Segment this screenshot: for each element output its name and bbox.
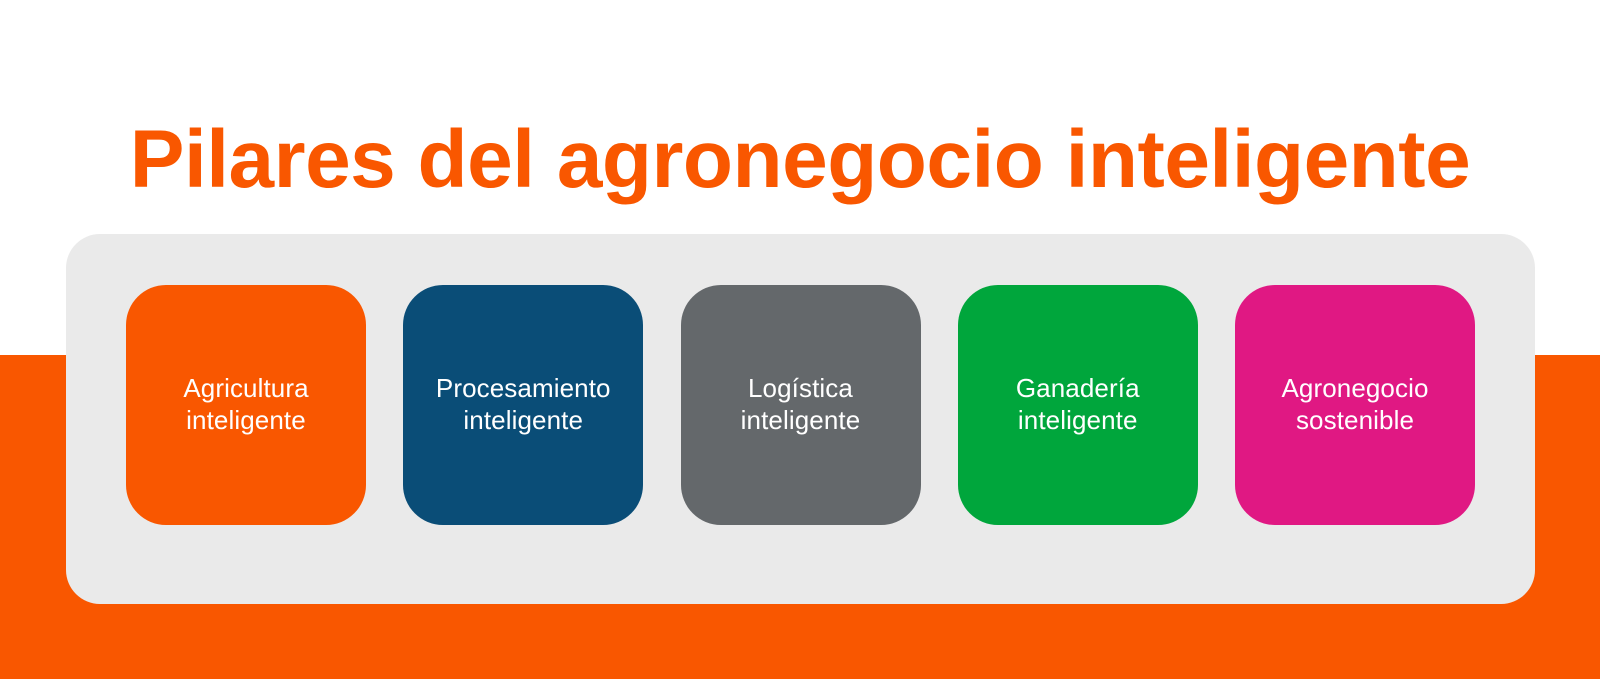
- pillars-panel: Agricultura inteligente Procesamiento in…: [66, 234, 1535, 604]
- pillar-card-procesamiento-inteligente[interactable]: Procesamiento inteligente: [403, 285, 643, 525]
- pillar-card-logistica-inteligente[interactable]: Logística inteligente: [681, 285, 921, 525]
- pillar-card-agronegocio-sostenible[interactable]: Agronegocio sostenible: [1235, 285, 1475, 525]
- pillar-card-label: Logística inteligente: [741, 373, 861, 436]
- pillar-card-agricultura-inteligente[interactable]: Agricultura inteligente: [126, 285, 366, 525]
- page-title: Pilares del agronegocio inteligente: [0, 117, 1600, 203]
- pillar-card-label: Agricultura inteligente: [183, 373, 308, 436]
- pillar-card-label: Agronegocio sostenible: [1281, 373, 1428, 436]
- pillars-card-row: Agricultura inteligente Procesamiento in…: [126, 285, 1475, 525]
- pillar-card-label: Procesamiento inteligente: [436, 373, 611, 436]
- pillar-card-ganaderia-inteligente[interactable]: Ganadería inteligente: [958, 285, 1198, 525]
- pillar-card-label: Ganadería inteligente: [1016, 373, 1140, 436]
